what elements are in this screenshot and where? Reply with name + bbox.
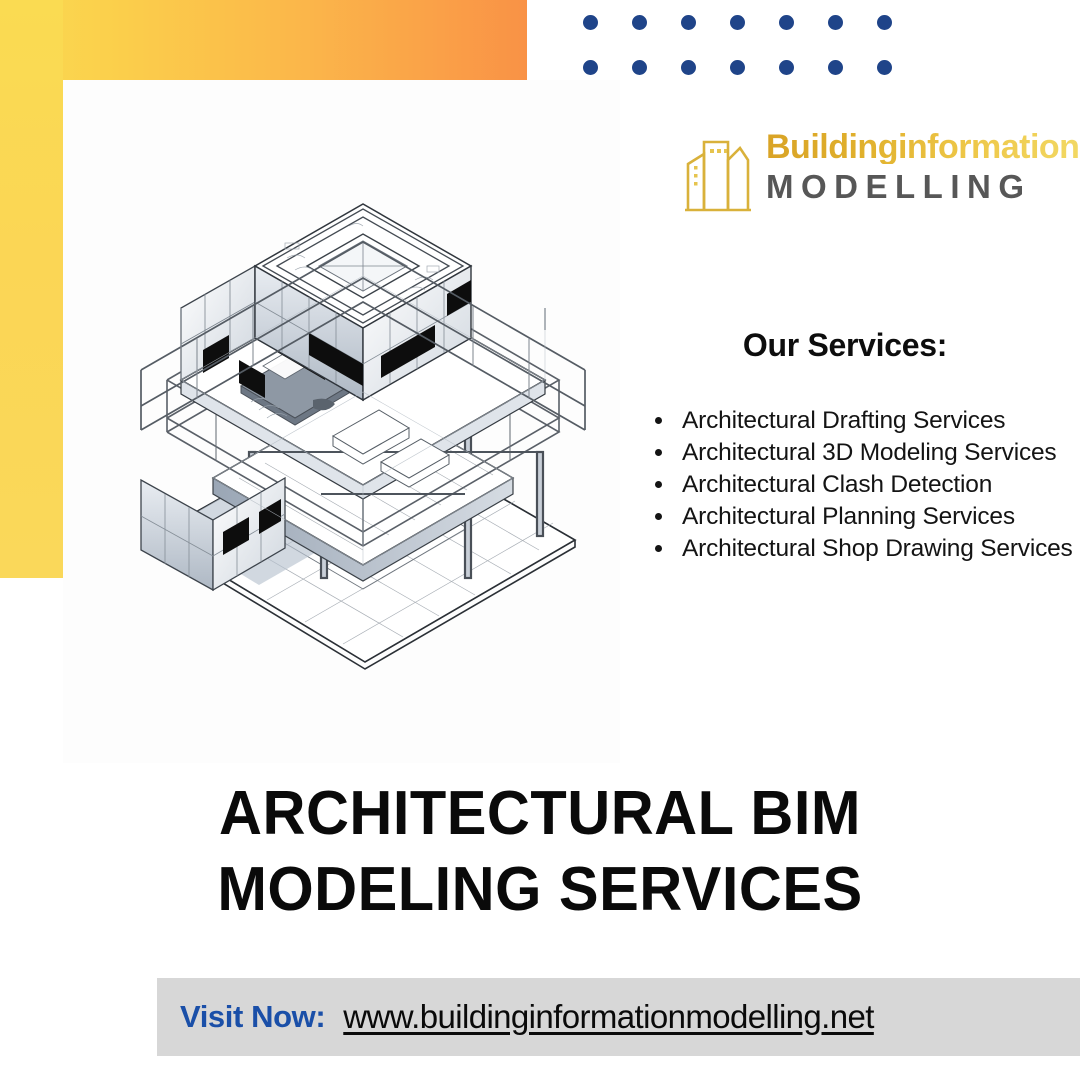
grid-dot (583, 60, 598, 75)
gradient-strip-left (0, 0, 63, 578)
grid-dot (779, 60, 794, 75)
grid-dot (877, 60, 892, 75)
brand-name-secondary: MODELLING (766, 170, 1079, 203)
services-list: Architectural Drafting Services Architec… (650, 405, 1080, 565)
grid-dot (730, 60, 745, 75)
grid-dot (828, 60, 843, 75)
brand-name-primary: Buildinginformation (766, 130, 1079, 164)
poster-canvas: Buildinginformation MODELLING Our Servic… (0, 0, 1080, 1080)
grid-dot (730, 15, 745, 30)
grid-dot (681, 15, 696, 30)
grid-dot (681, 60, 696, 75)
grid-dot (583, 15, 598, 30)
service-item: Architectural 3D Modeling Services (676, 437, 1080, 469)
grid-dot (632, 60, 647, 75)
brand-wordmark: Buildinginformation MODELLING (766, 130, 1079, 203)
service-item: Architectural Clash Detection (676, 469, 1080, 501)
grid-dot (632, 15, 647, 30)
grid-dot (877, 15, 892, 30)
cta-label: Visit Now: (180, 999, 325, 1035)
page-title: ARCHITECTURAL BIM MODELING SERVICES (60, 776, 1020, 928)
grid-dot (828, 15, 843, 30)
dot-grid-decoration (583, 15, 926, 105)
bim-building-illustration (63, 80, 620, 763)
service-item: Architectural Planning Services (676, 501, 1080, 533)
service-item: Architectural Shop Drawing Services (676, 533, 1080, 565)
hero-image-card (63, 80, 620, 763)
service-item: Architectural Drafting Services (676, 405, 1080, 437)
cta-bar: Visit Now: www.buildinginformationmodell… (157, 978, 1080, 1056)
gradient-bar-top (0, 0, 527, 80)
brand-logo: Buildinginformation MODELLING (684, 118, 1079, 214)
building-skyline-icon (684, 118, 752, 214)
website-url-link[interactable]: www.buildinginformationmodelling.net (343, 998, 874, 1036)
grid-dot (779, 15, 794, 30)
services-heading: Our Services: (660, 327, 1030, 364)
